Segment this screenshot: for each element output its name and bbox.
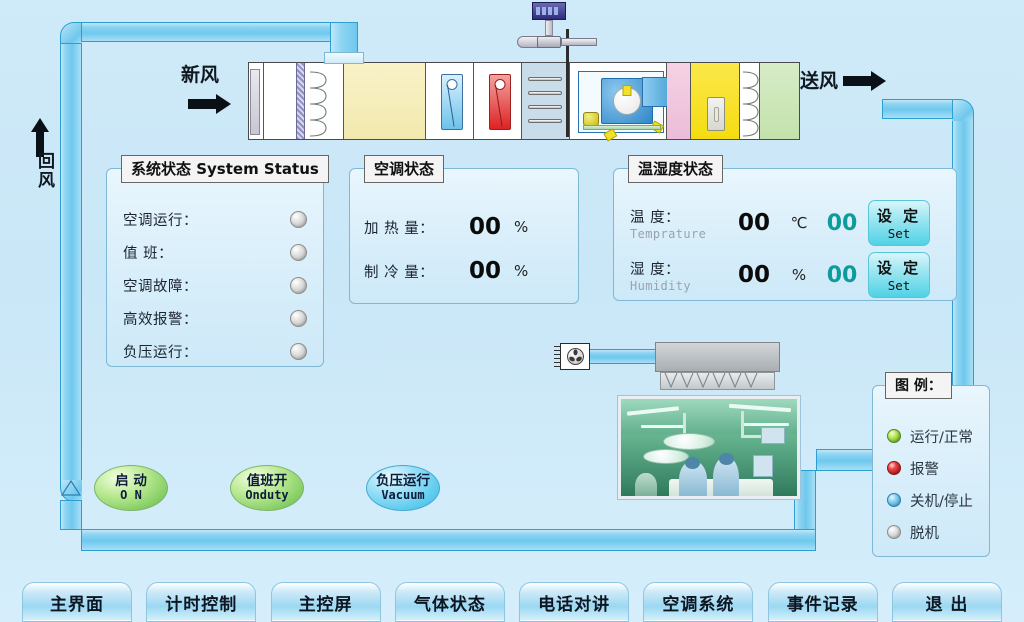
ac-cooling-value: 00	[456, 258, 514, 284]
supply-plenum	[655, 342, 780, 372]
ahu-humidifier-section	[522, 63, 570, 139]
temperature-label-block: 温 度： Temprature	[630, 206, 726, 241]
exhaust-fan-hub	[567, 348, 584, 365]
legend-item-alarm: 报警	[887, 452, 973, 484]
ahu-inlet-flange	[324, 52, 364, 64]
status-label: 负压运行：	[123, 341, 198, 362]
ahu-final-coil-section	[740, 63, 760, 139]
legend-item-offline: 脱机	[887, 516, 973, 548]
humidifier-bar-icon	[528, 119, 562, 123]
fresh-air-label: 新风	[181, 60, 219, 87]
duct-corner-top-right	[952, 99, 974, 121]
ahu-fan-section	[570, 63, 667, 139]
valve-pipe-icon	[561, 38, 597, 46]
nav-button-event-log[interactable]: 事件记录	[768, 582, 878, 622]
humidifier-bar-icon	[528, 77, 562, 81]
nav-button-exit[interactable]: 退 出	[892, 582, 1002, 622]
humidity-label-block: 湿 度： Humidity	[630, 258, 726, 293]
vacuum-button-label-en: Vacuum	[381, 489, 424, 503]
onduty-button-label-cn: 值班开	[247, 474, 288, 489]
prefilter-mesh-icon	[296, 63, 305, 139]
valve-elbow-icon	[517, 36, 539, 48]
temperature-unit: ℃	[782, 214, 816, 232]
duct-damper-symbol	[60, 478, 82, 498]
ac-cooling-unit: %	[514, 262, 528, 280]
ac-row-cooling: 制 冷 量： 00 %	[364, 249, 564, 293]
ahu-pink-filter-section	[667, 63, 691, 139]
temperature-humidity-title: 温湿度状态	[628, 155, 723, 183]
onduty-button[interactable]: 值班开 Onduty	[230, 465, 304, 511]
ac-status-panel: 空调状态 加 热 量： 00 % 制 冷 量： 00 %	[349, 168, 579, 304]
status-label: 空调运行：	[123, 209, 198, 230]
status-row-ac-fault: 空调故障：	[123, 269, 307, 302]
ac-heating-unit: %	[514, 218, 528, 236]
return-air-label: 回风	[32, 152, 57, 190]
nav-button-intercom[interactable]: 电话对讲	[519, 582, 629, 622]
duct-exhaust-branch	[589, 349, 665, 364]
set-button-label-en: Set	[888, 278, 911, 293]
humidifier-bar-icon	[528, 105, 562, 109]
set-button-label-en: Set	[888, 226, 911, 241]
duct-top-run	[81, 22, 341, 42]
air-handling-unit	[248, 62, 800, 140]
duct-bottom-run	[81, 529, 816, 551]
ac-status-list: 加 热 量： 00 % 制 冷 量： 00 %	[364, 205, 564, 293]
cooling-thermometer-icon	[441, 74, 463, 130]
vacuum-button[interactable]: 负压运行 Vacuum	[366, 465, 440, 511]
legend-label: 脱机	[910, 522, 939, 543]
legend-title: 图 例：	[885, 372, 952, 399]
supply-air-arrow-icon	[843, 70, 887, 97]
heating-thermometer-icon	[489, 74, 511, 130]
status-row-negative-pressure: 负压运行：	[123, 335, 307, 368]
vacuum-button-label-cn: 负压运行	[376, 474, 430, 489]
temperature-label: 温 度：	[630, 206, 726, 227]
fan-hub-icon	[613, 87, 641, 115]
temperature-setpoint: 00	[816, 211, 868, 236]
inlet-louver-icon	[250, 69, 260, 135]
system-status-list: 空调运行： 值 班： 空调故障： 高效报警： 负压运行：	[123, 203, 307, 368]
humidity-set-button[interactable]: 设 定 Set	[868, 252, 930, 298]
fan-base-icon	[583, 125, 661, 130]
status-lamp-on-duty	[290, 244, 307, 261]
status-lamp-ac-fault	[290, 277, 307, 294]
operating-room-video-feed[interactable]	[618, 396, 800, 499]
nav-button-main[interactable]: 主界面	[22, 582, 132, 622]
legend-lamp-red	[887, 461, 901, 475]
laminar-diffuser	[660, 372, 775, 390]
supply-air-label: 送风	[800, 66, 838, 93]
nav-button-hvac-system[interactable]: 空调系统	[643, 582, 753, 622]
onduty-button-label-en: Onduty	[245, 489, 288, 503]
fan-outlet-icon	[642, 77, 668, 107]
status-row-ac-run: 空调运行：	[123, 203, 307, 236]
set-button-label-cn: 设 定	[877, 257, 921, 278]
ahu-cooling-coil-section	[426, 63, 474, 139]
status-row-hepa-alarm: 高效报警：	[123, 302, 307, 335]
status-lamp-ac-run	[290, 211, 307, 228]
humidity-unit: %	[782, 266, 816, 284]
ahu-heating-coil-section	[474, 63, 522, 139]
status-lamp-hepa-alarm	[290, 310, 307, 327]
humidifier-bar-icon	[528, 91, 562, 95]
ac-heating-label: 加 热 量：	[364, 217, 456, 238]
ac-row-heating: 加 热 量： 00 %	[364, 205, 564, 249]
duct-supply-run	[882, 99, 953, 119]
legend-item-running: 运行/正常	[887, 420, 973, 452]
duct-corner-top-left	[60, 22, 82, 44]
ac-cooling-label: 制 冷 量：	[364, 261, 456, 282]
coil-loops-icon	[741, 66, 761, 138]
status-label: 高效报警：	[123, 308, 198, 329]
nav-button-main-control-screen[interactable]: 主控屏	[271, 582, 381, 622]
valve-actuator-icon	[532, 2, 566, 20]
valve-stem-icon	[545, 20, 553, 36]
legend-label: 报警	[910, 458, 939, 479]
legend-lamp-green	[887, 429, 901, 443]
legend-list: 运行/正常 报警 关机/停止 脱机	[887, 420, 973, 548]
ahu-hepa-filter-section	[760, 63, 799, 139]
ahu-access-section	[691, 63, 739, 139]
valve-body-icon	[537, 36, 561, 48]
ac-heating-value: 00	[456, 214, 514, 240]
duct-left-run	[60, 43, 82, 481]
legend-panel: 图 例： 运行/正常 报警 关机/停止 脱机	[872, 385, 990, 557]
start-button-label-cn: 启 动	[115, 474, 147, 489]
ac-status-title: 空调状态	[364, 155, 444, 183]
status-label: 空调故障：	[123, 275, 198, 296]
temperature-set-button[interactable]: 设 定 Set	[868, 200, 930, 246]
hvac-mimic-screen: 新风 送风 回风	[0, 0, 1024, 622]
humidity-value: 00	[726, 262, 782, 288]
ahu-inlet-section	[249, 63, 264, 139]
fan-motor-icon	[583, 112, 599, 126]
status-label: 值 班：	[123, 242, 173, 263]
legend-lamp-grey	[887, 525, 901, 539]
exhaust-fan-icon	[560, 343, 590, 370]
status-lamp-negative-pressure	[290, 343, 307, 360]
temperature-label-en: Temprature	[630, 227, 726, 241]
start-button[interactable]: 启 动 O N	[94, 465, 168, 511]
ahu-medium-filter-section	[344, 63, 426, 139]
nav-button-timer-control[interactable]: 计时控制	[146, 582, 256, 622]
temperature-value: 00	[726, 210, 782, 236]
legend-label: 关机/停止	[910, 490, 973, 511]
th-row-humidity: 湿 度： Humidity 00 % 00 设 定 Set	[630, 251, 944, 299]
legend-lamp-blue	[887, 493, 901, 507]
th-row-temperature: 温 度： Temprature 00 ℃ 00 设 定 Set	[630, 199, 944, 247]
temperature-humidity-panel: 温湿度状态 温 度： Temprature 00 ℃ 00 设 定 Set 湿 …	[613, 168, 957, 301]
exhaust-grill-icon	[554, 346, 561, 369]
ahu-prefilter-section	[264, 63, 344, 139]
humidity-label-en: Humidity	[630, 279, 726, 293]
duct-left-lower	[60, 500, 82, 530]
th-status-list: 温 度： Temprature 00 ℃ 00 设 定 Set 湿 度： Hum…	[630, 199, 944, 299]
bottom-navigation-bar: 主界面 计时控制 主控屏 气体状态 电话对讲 空调系统 事件记录 退 出	[0, 578, 1024, 622]
control-valve-assembly	[505, 0, 597, 62]
legend-item-stopped: 关机/停止	[887, 484, 973, 516]
system-status-panel: 系统状态 System Status 空调运行： 值 班： 空调故障： 高效报警…	[106, 168, 324, 367]
set-button-label-cn: 设 定	[877, 205, 921, 226]
humidity-label: 湿 度：	[630, 258, 726, 279]
humidity-setpoint: 00	[816, 263, 868, 288]
system-status-title: 系统状态 System Status	[121, 155, 329, 183]
status-row-on-duty: 值 班：	[123, 236, 307, 269]
nav-button-gas-status[interactable]: 气体状态	[395, 582, 505, 622]
legend-label: 运行/正常	[910, 426, 973, 447]
coil-loops-icon	[308, 66, 330, 138]
access-door-icon	[707, 97, 725, 131]
fresh-air-arrow-icon	[188, 93, 232, 120]
start-button-label-en: O N	[120, 489, 142, 503]
